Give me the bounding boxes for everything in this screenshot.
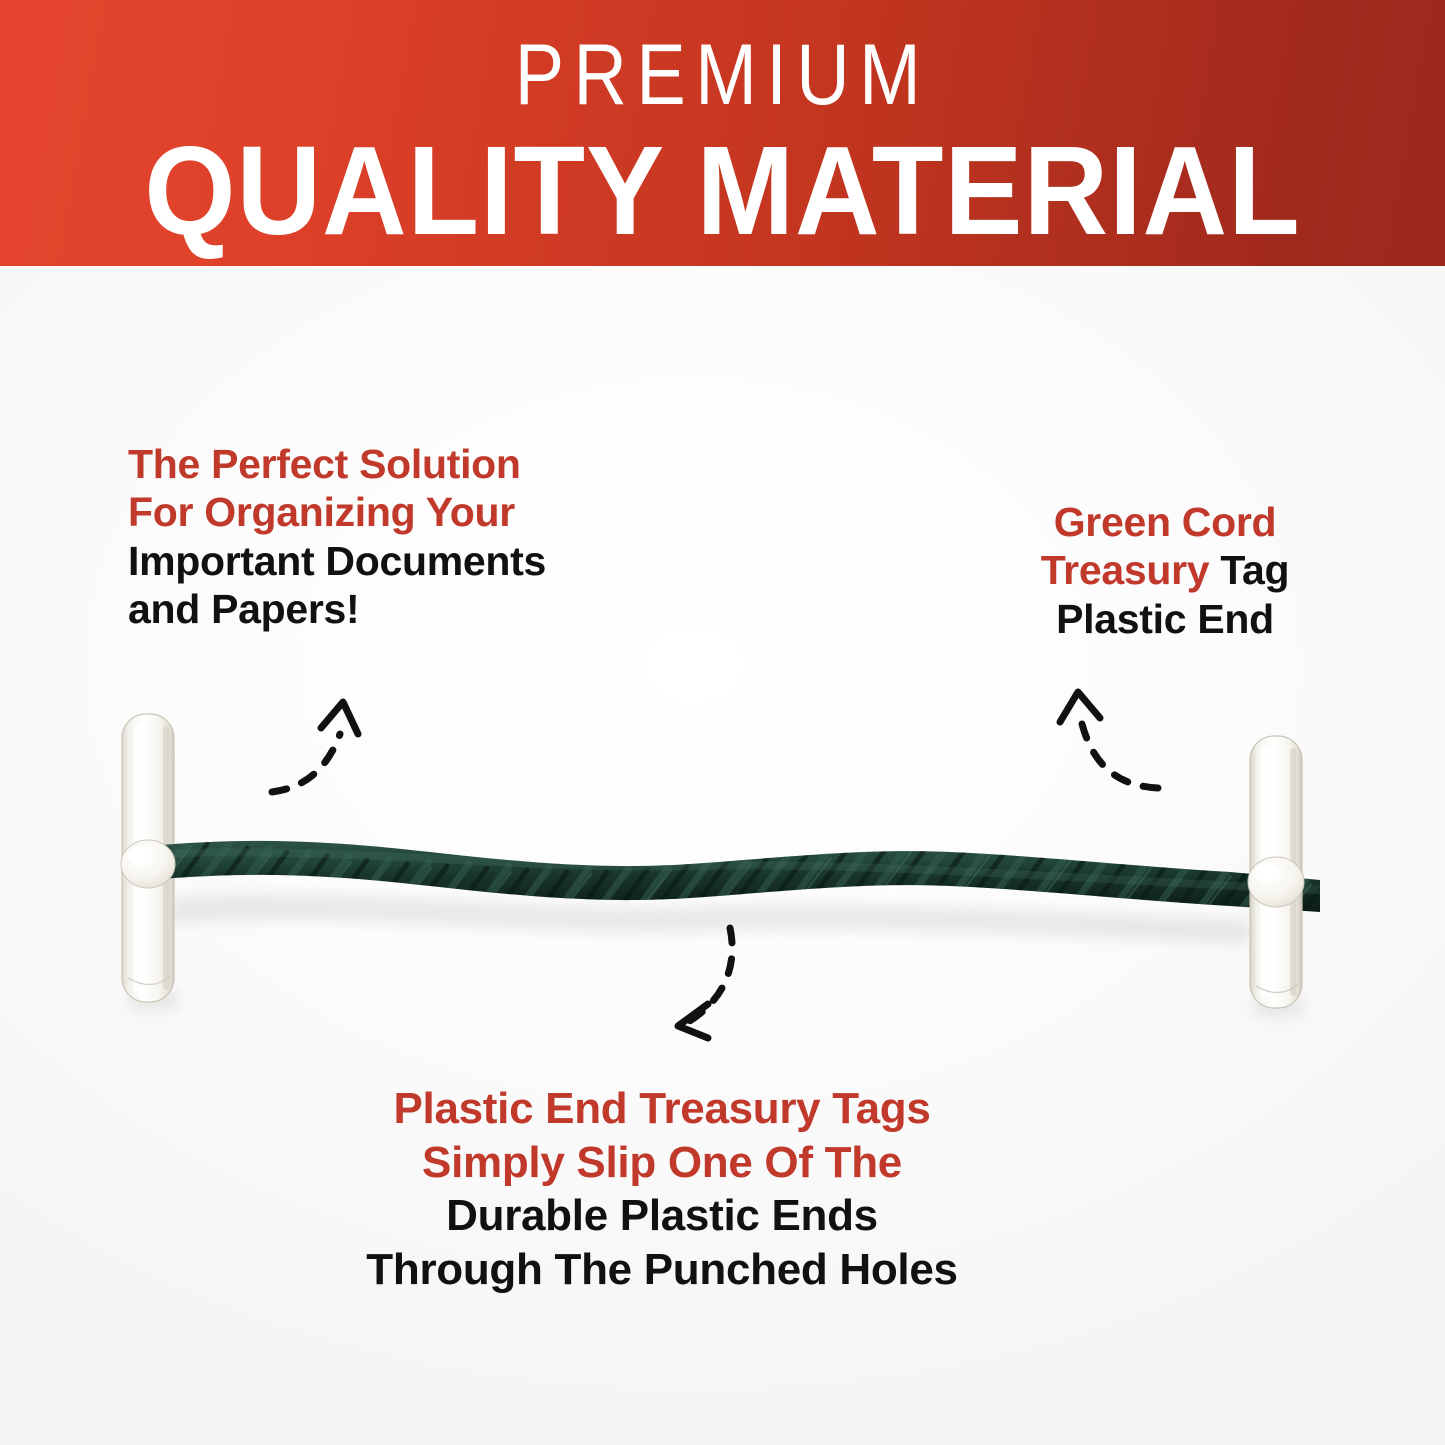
callout-right-dark-inline: Tag (1209, 547, 1289, 593)
green-twisted-cord (150, 840, 1327, 924)
cord-knot-right (1248, 857, 1304, 907)
callout-bottom-dark-line2: Through The Punched Holes (232, 1243, 1092, 1297)
callout-left-red-line2: For Organizing Your (128, 488, 768, 536)
callout-left-dark-line2: and Papers! (128, 585, 768, 633)
callout-left: The Perfect Solution For Organizing Your… (128, 440, 768, 634)
plastic-end-bar-left (122, 714, 174, 1002)
callout-left-dark-line1: Important Documents (128, 537, 768, 585)
plastic-end-bar-right (1250, 736, 1302, 1008)
callout-right-line2: Treasury Tag (955, 546, 1375, 594)
callout-bottom-red-line2: Simply Slip One Of The (232, 1136, 1092, 1190)
cord-twist-strands (150, 840, 1327, 924)
callout-left-red-line1: The Perfect Solution (128, 440, 768, 488)
curved-dashed-arrow-up-right-icon (258, 688, 398, 808)
curved-dashed-arrow-up-left-icon (1036, 676, 1176, 804)
cord-knot-left (121, 840, 175, 888)
banner-title-quality-material: QUALITY MATERIAL (51, 128, 1395, 254)
curved-dashed-arrow-down-left-icon (652, 918, 802, 1046)
callout-bottom-red-line1: Plastic End Treasury Tags (232, 1082, 1092, 1136)
callout-right: Green Cord Treasury Tag Plastic End (955, 498, 1375, 643)
banner-title-premium: PREMIUM (101, 32, 1344, 118)
callout-bottom: Plastic End Treasury Tags Simply Slip On… (232, 1082, 1092, 1297)
callout-bottom-dark-line1: Durable Plastic Ends (232, 1189, 1092, 1243)
callout-right-red-line2: Treasury (1041, 547, 1210, 593)
callout-right-dark-line2: Plastic End (955, 595, 1375, 643)
callout-right-line1: Green Cord (955, 498, 1375, 546)
header-banner: PREMIUM QUALITY MATERIAL (0, 0, 1445, 266)
callout-right-red-line1: Green Cord (1054, 499, 1277, 545)
product-infographic-poster: PREMIUM QUALITY MATERIAL (0, 0, 1445, 1445)
